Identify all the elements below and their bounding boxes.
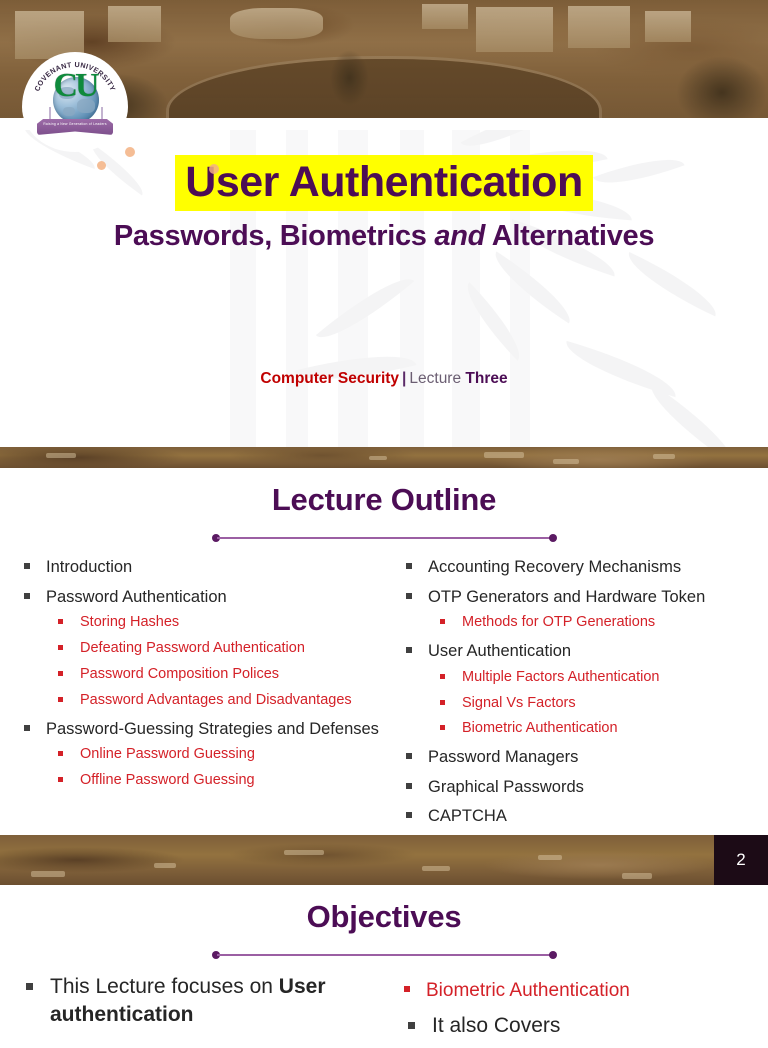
list-item-label: Offline Password Guessing	[80, 772, 255, 788]
heading-divider	[212, 532, 557, 544]
subtitle-italic: and	[434, 220, 485, 252]
page-title: User Authentication	[175, 155, 592, 211]
logo-monogram: CU	[31, 69, 119, 103]
list-item: Biometric Authentication	[394, 978, 756, 1004]
bullet-square-icon	[406, 783, 412, 789]
list-item: Password Authentication Storing Hashes D…	[12, 586, 384, 711]
bullet-square-icon	[58, 645, 63, 650]
title-slide: COVENANT UNIVERSITY CU Raising a New Gen…	[0, 0, 768, 447]
bullet-square-icon	[406, 593, 412, 599]
bullet-square-icon	[440, 700, 445, 705]
list-item: Multiple Factors Authentication	[428, 668, 756, 688]
list-item: Password Managers	[394, 746, 756, 769]
bullet-square-icon	[404, 986, 410, 992]
list-item: Accounting Recovery Mechanisms	[394, 556, 756, 579]
divider-line	[217, 954, 552, 956]
bullet-square-icon	[58, 671, 63, 676]
course-separator: |	[399, 370, 409, 387]
list-item-label: Methods for OTP Generations	[462, 614, 655, 630]
logo-ribbon: Raising a New Generation of Leaders	[37, 119, 113, 135]
bullet-square-icon	[24, 593, 30, 599]
list-item: Signal Vs Factors	[428, 694, 756, 714]
university-logo: COVENANT UNIVERSITY CU Raising a New Gen…	[22, 52, 128, 152]
objectives-left-column: This Lecture focuses on User authenticat…	[12, 973, 384, 1048]
outline-columns: Introduction Password Authentication Sto…	[0, 544, 768, 835]
bullet-square-icon	[58, 777, 63, 782]
list-item: Biometric Authentication	[428, 719, 756, 739]
subtitle-before: Passwords, Biometrics	[114, 220, 435, 252]
list-item-label: Password Composition Polices	[80, 666, 279, 682]
list-item: OTP Generators and Hardware Token Method…	[394, 586, 756, 633]
outline-sublist: Storing Hashes Defeating Password Authen…	[46, 613, 384, 710]
list-item: User Authentication Multiple Factors Aut…	[394, 640, 756, 739]
list-item-label: Biometric Authentication	[426, 980, 630, 1001]
objectives-heading: Objectives	[0, 899, 768, 935]
list-item: Offline Password Guessing	[46, 771, 384, 791]
list-item: Graphical Passwords	[394, 776, 756, 799]
list-item-label: Biometric Authentication	[462, 720, 618, 736]
divider-line	[217, 537, 552, 539]
bullet-square-icon	[24, 563, 30, 569]
objectives-right-list: It also Covers	[394, 1012, 756, 1040]
outline-heading: Lecture Outline	[0, 482, 768, 518]
list-item: Password Composition Polices	[46, 665, 384, 685]
bullet-square-icon	[58, 697, 63, 702]
objectives-left-list: This Lecture focuses on User authenticat…	[12, 973, 384, 1028]
bullet-square-icon	[406, 753, 412, 759]
page-number-badge: 2	[714, 835, 768, 885]
list-item-label: Password Advantages and Disadvantages	[80, 692, 352, 708]
list-item-label: It also Covers	[432, 1014, 560, 1037]
decorative-dot-2	[125, 147, 135, 157]
divider-dot-right	[549, 951, 557, 959]
page-number: 2	[736, 850, 745, 870]
outline-left-column: Introduction Password Authentication Sto…	[12, 556, 384, 835]
objectives-right-sublist: Biometric Authentication	[394, 978, 756, 1004]
outline-sublist: Methods for OTP Generations	[428, 613, 756, 633]
outline-slide: Lecture Outline Introduction Password Au…	[0, 468, 768, 835]
outline-sublist: Multiple Factors Authentication Signal V…	[428, 668, 756, 740]
heading-divider	[212, 949, 557, 961]
outline-right-list: Accounting Recovery Mechanisms OTP Gener…	[394, 556, 756, 828]
list-item: Password Advantages and Disadvantages	[46, 691, 384, 711]
logo-motto: Raising a New Generation of Leaders	[37, 119, 113, 126]
outline-sublist: Online Password Guessing Offline Passwor…	[46, 745, 384, 791]
outline-right-column: Accounting Recovery Mechanisms OTP Gener…	[384, 556, 756, 835]
list-item: Password-Guessing Strategies and Defense…	[12, 718, 384, 791]
list-item-label: Signal Vs Factors	[462, 695, 576, 711]
objectives-slide: Objectives This Lecture focuses on User …	[0, 885, 768, 1048]
list-item-label: OTP Generators and Hardware Token	[428, 588, 705, 606]
title-block: User Authentication Passwords, Biometric…	[0, 155, 768, 253]
list-item-label: Introduction	[46, 558, 132, 576]
lecture-number: Three	[465, 370, 507, 387]
decorative-dot-3	[209, 164, 219, 174]
bullet-square-icon	[58, 619, 63, 624]
bullet-square-icon	[440, 674, 445, 679]
bullet-square-icon	[24, 725, 30, 731]
subtitle-after: Alternatives	[485, 220, 654, 252]
outline-left-list: Introduction Password Authentication Sto…	[12, 556, 384, 791]
bullet-square-icon	[440, 725, 445, 730]
objectives-right-column: Biometric Authentication It also Covers	[384, 973, 756, 1048]
bullet-square-icon	[408, 1022, 415, 1029]
list-item-label: Password Managers	[428, 748, 578, 766]
list-item: Methods for OTP Generations	[428, 613, 756, 633]
list-item-label: Accounting Recovery Mechanisms	[428, 558, 681, 576]
list-item-label: Password-Guessing Strategies and Defense…	[46, 720, 379, 738]
list-item-label: Online Password Guessing	[80, 746, 255, 762]
list-item-label: CAPTCHA	[428, 807, 507, 825]
photo-band-top	[0, 447, 768, 468]
bullet-square-icon	[406, 647, 412, 653]
bullet-square-icon	[406, 563, 412, 569]
bullet-square-icon	[58, 751, 63, 756]
list-item-label: Password Authentication	[46, 588, 227, 606]
list-item-label: Graphical Passwords	[428, 778, 584, 796]
bullet-square-icon	[440, 619, 445, 624]
list-item-label: Defeating Password Authentication	[80, 640, 305, 656]
list-item: CAPTCHA	[394, 805, 756, 828]
list-item: Online Password Guessing	[46, 745, 384, 765]
course-line: Computer Security|Lecture Three	[0, 370, 768, 388]
list-item: This Lecture focuses on User authenticat…	[12, 973, 384, 1028]
divider-dot-right	[549, 534, 557, 542]
objectives-columns: This Lecture focuses on User authenticat…	[0, 961, 768, 1048]
list-item-label: Storing Hashes	[80, 614, 179, 630]
list-item: Storing Hashes	[46, 613, 384, 633]
photo-band-bottom: 2	[0, 835, 768, 885]
bullet-square-icon	[26, 983, 33, 990]
list-item-label: User Authentication	[428, 642, 571, 660]
list-item: Introduction	[12, 556, 384, 579]
list-item: Defeating Password Authentication	[46, 639, 384, 659]
decorative-dot-1	[97, 161, 106, 170]
bullet-square-icon	[406, 812, 412, 818]
page-subtitle: Passwords, Biometrics and Alternatives	[0, 220, 768, 253]
course-name: Computer Security	[260, 370, 399, 387]
lecture-word: Lecture	[409, 370, 461, 387]
list-item-label: This Lecture focuses on	[50, 975, 279, 998]
list-item-label: Multiple Factors Authentication	[462, 669, 659, 685]
list-item: It also Covers	[394, 1012, 756, 1040]
